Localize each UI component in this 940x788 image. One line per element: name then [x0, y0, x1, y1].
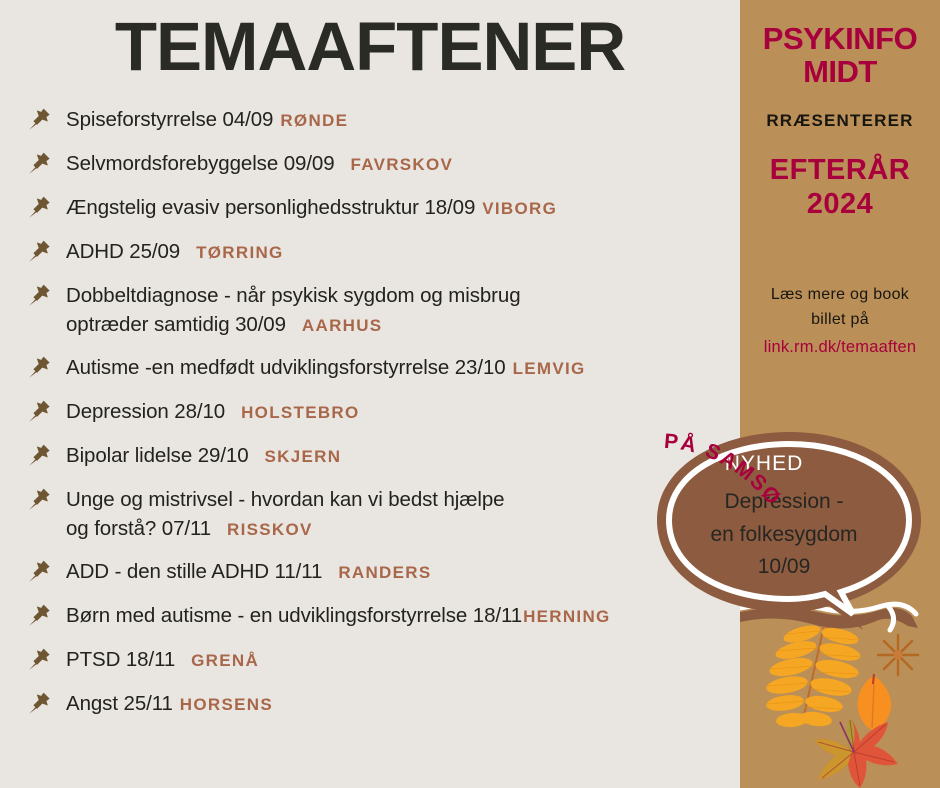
event-item[interactable]: Angst 25/11HORSENS: [24, 689, 740, 719]
event-text: Selvmordsforebyggelse 09/09FAVRSKOV: [66, 149, 453, 178]
event-title: Angst 25/11: [66, 692, 173, 715]
pushpin-icon: [26, 646, 52, 672]
event-item[interactable]: ADHD 25/09TØRRING: [24, 237, 740, 267]
event-city: FAVRSKOV: [351, 155, 454, 174]
event-text: Bipolar lidelse 29/10SKJERN: [66, 441, 341, 470]
event-text: Spiseforstyrrelse 04/09RØNDE: [66, 105, 348, 134]
event-city: TØRRING: [196, 243, 283, 262]
event-text: Dobbeltdiagnose - når psykisk sygdom og …: [66, 281, 521, 339]
event-title: ADHD 25/09: [66, 240, 180, 263]
brand-line-2: MIDT: [740, 55, 940, 88]
event-line: Unge og mistrivsel - hvordan kan vi beds…: [66, 485, 504, 514]
pushpin-icon: [26, 602, 52, 628]
season-line-2: 2024: [740, 187, 940, 221]
event-city: AARHUS: [302, 316, 383, 335]
bubble-line-3: 10/09: [667, 551, 901, 584]
event-line: Autisme -en medfødt udviklingsforstyrrel…: [66, 353, 586, 382]
event-city: GRENÅ: [191, 651, 259, 670]
pushpin-icon: [26, 442, 52, 468]
pushpin-icon: [26, 486, 52, 512]
bubble-event-text: Depression - en folkesygdom 10/09: [667, 486, 901, 584]
event-title: Depression 28/10: [66, 400, 225, 423]
event-item[interactable]: Dobbeltdiagnose - når psykisk sygdom og …: [24, 281, 740, 339]
event-title: Dobbeltdiagnose - når psykisk sygdom og …: [66, 284, 521, 307]
event-item[interactable]: Bipolar lidelse 29/10SKJERN: [24, 441, 740, 471]
event-text: Depression 28/10HOLSTEBRO: [66, 397, 360, 426]
event-title: Bipolar lidelse 29/10: [66, 444, 249, 467]
pushpin-icon: [26, 282, 52, 308]
event-text: PTSD 18/11GRENÅ: [66, 645, 259, 674]
pushpin-icon: [26, 558, 52, 584]
news-speech-bubble: NYHED Depression - en folkesygdom 10/09 …: [653, 430, 925, 635]
event-title: ADD - den stille ADHD 11/11: [66, 560, 322, 583]
pushpin-icon: [26, 194, 52, 220]
event-text: Børn med autisme - en udviklingsforstyrr…: [66, 601, 611, 630]
event-city: VIBORG: [482, 199, 557, 218]
event-item[interactable]: Autisme -en medfødt udviklingsforstyrrel…: [24, 353, 740, 383]
pushpin-icon: [26, 150, 52, 176]
event-city: RISSKOV: [227, 520, 313, 539]
event-text: ADD - den stille ADHD 11/11RANDERS: [66, 557, 432, 586]
event-line: Ængstelig evasiv personlighedsstruktur 1…: [66, 193, 557, 222]
event-line: Angst 25/11HORSENS: [66, 689, 273, 718]
event-title: Ængstelig evasiv personlighedsstruktur 1…: [66, 196, 475, 219]
event-line: Depression 28/10HOLSTEBRO: [66, 397, 360, 426]
event-title: Børn med autisme - en udviklingsforstyrr…: [66, 604, 522, 627]
pushpin-icon: [26, 398, 52, 424]
event-city: SKJERN: [265, 447, 342, 466]
season-line-1: EFTERÅR: [770, 154, 910, 186]
brand-line-1: PSYKINFO: [763, 21, 917, 56]
season-title: EFTERÅR 2024: [740, 153, 940, 221]
event-item[interactable]: PTSD 18/11GRENÅ: [24, 645, 740, 675]
event-item[interactable]: Selvmordsforebyggelse 09/09FAVRSKOV: [24, 149, 740, 179]
event-line: Spiseforstyrrelse 04/09RØNDE: [66, 105, 348, 134]
event-title: Autisme -en medfødt udviklingsforstyrrel…: [66, 356, 506, 379]
event-line: Bipolar lidelse 29/10SKJERN: [66, 441, 341, 470]
pushpin-icon: [26, 106, 52, 132]
event-item[interactable]: ADD - den stille ADHD 11/11RANDERS: [24, 557, 740, 587]
event-title: og forstå? 07/11: [66, 517, 211, 540]
event-item[interactable]: Depression 28/10HOLSTEBRO: [24, 397, 740, 427]
event-line: og forstå? 07/11RISSKOV: [66, 514, 504, 543]
poster-canvas: PSYKINFO MIDT RRÆSENTERER EFTERÅR 2024 L…: [0, 0, 940, 788]
event-line: ADHD 25/09TØRRING: [66, 237, 284, 266]
pushpin-icon: [26, 690, 52, 716]
event-text: Autisme -en medfødt udviklingsforstyrrel…: [66, 353, 586, 382]
event-line: Børn med autisme - en udviklingsforstyrr…: [66, 601, 611, 630]
sidebar: PSYKINFO MIDT RRÆSENTERER EFTERÅR 2024 L…: [740, 0, 940, 788]
page-title: TEMAAFTENER: [0, 12, 740, 81]
presents-label: RRÆSENTERER: [740, 111, 940, 131]
event-item[interactable]: Ængstelig evasiv personlighedsstruktur 1…: [24, 193, 740, 223]
pushpin-icon: [26, 238, 52, 264]
event-line: optræder samtidig 30/09AARHUS: [66, 310, 521, 339]
event-city: HERNING: [523, 607, 611, 626]
event-text: ADHD 25/09TØRRING: [66, 237, 284, 266]
event-item[interactable]: Spiseforstyrrelse 04/09RØNDE: [24, 105, 740, 135]
event-text: Ængstelig evasiv personlighedsstruktur 1…: [66, 193, 557, 222]
booking-line-2: billet på: [811, 311, 869, 328]
event-title: optræder samtidig 30/09: [66, 313, 286, 336]
pushpin-icon: [26, 354, 52, 380]
event-item[interactable]: Unge og mistrivsel - hvordan kan vi beds…: [24, 485, 740, 543]
event-list: Spiseforstyrrelse 04/09RØNDESelvmordsfor…: [24, 105, 740, 733]
bubble-line-1: Depression -: [667, 486, 901, 519]
event-city: LEMVIG: [513, 359, 586, 378]
brand-title: PSYKINFO MIDT: [740, 22, 940, 89]
event-line: ADD - den stille ADHD 11/11RANDERS: [66, 557, 432, 586]
event-city: RØNDE: [280, 111, 348, 130]
event-text: Angst 25/11HORSENS: [66, 689, 273, 718]
bubble-content: NYHED Depression - en folkesygdom 10/09 …: [653, 430, 925, 616]
event-line: Dobbeltdiagnose - når psykisk sygdom og …: [66, 281, 521, 310]
event-city: HOLSTEBRO: [241, 403, 359, 422]
event-city: RANDERS: [338, 563, 431, 582]
event-text: Unge og mistrivsel - hvordan kan vi beds…: [66, 485, 504, 543]
event-title: Spiseforstyrrelse 04/09: [66, 108, 273, 131]
event-title: Unge og mistrivsel - hvordan kan vi beds…: [66, 488, 504, 511]
event-title: Selvmordsforebyggelse 09/09: [66, 152, 335, 175]
bubble-line-2: en folkesygdom: [667, 519, 901, 552]
event-title: PTSD 18/11: [66, 648, 175, 671]
booking-link[interactable]: link.rm.dk/temaaften: [740, 335, 940, 361]
event-line: PTSD 18/11GRENÅ: [66, 645, 259, 674]
event-city: HORSENS: [180, 695, 273, 714]
booking-info: Læs mere og book billet på link.rm.dk/te…: [740, 283, 940, 360]
event-item[interactable]: Børn med autisme - en udviklingsforstyrr…: [24, 601, 740, 631]
booking-line-1: Læs mere og book: [771, 286, 909, 303]
nyhed-badge: NYHED: [689, 452, 839, 476]
event-line: Selvmordsforebyggelse 09/09FAVRSKOV: [66, 149, 453, 178]
